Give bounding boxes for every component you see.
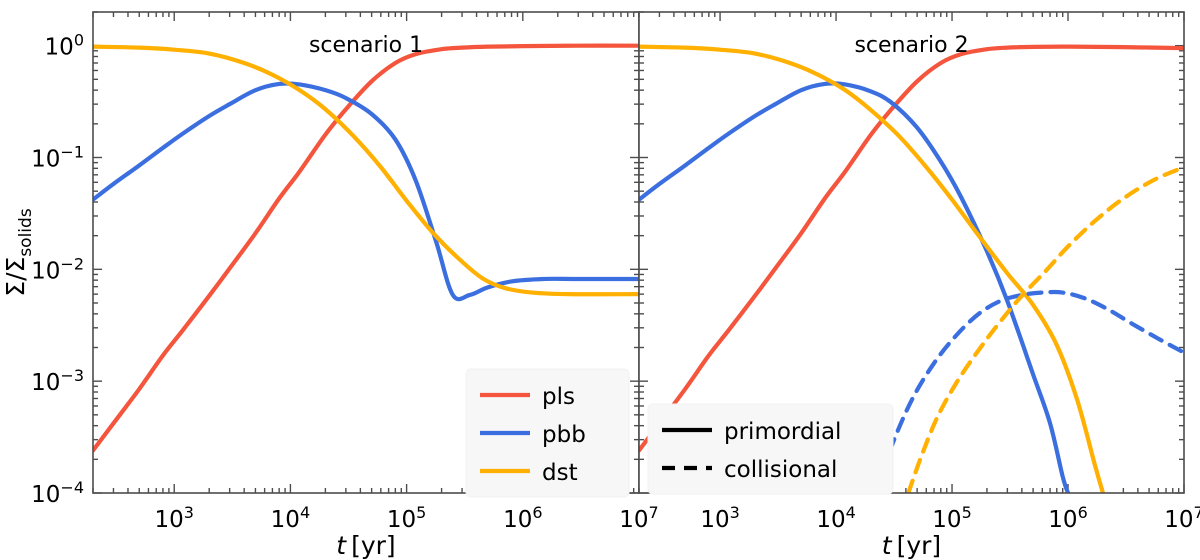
x-tick-base: 10 <box>700 507 729 533</box>
x-tick-exponent: 3 <box>730 503 740 522</box>
y-tick-base: 10 <box>31 370 60 396</box>
y-tick-exponent: −4 <box>60 478 84 497</box>
x-tick-exponent: 7 <box>649 503 659 522</box>
figure-panel-container: scenario 1scenario 210310410510610710310… <box>0 0 1200 560</box>
x-axis-unit: [yr] <box>897 531 942 560</box>
x-tick-exponent: 4 <box>846 503 856 522</box>
panel-title-2: scenario 2 <box>854 33 968 58</box>
x-tick-label: 103 <box>700 503 739 533</box>
x-tick-label: 106 <box>503 503 542 533</box>
x-tick-label: 104 <box>271 503 310 533</box>
panel-title-1: scenario 1 <box>309 33 423 58</box>
y-tick-label: 10−1 <box>31 142 84 172</box>
x-tick-exponent: 7 <box>1194 503 1200 522</box>
x-tick-base: 10 <box>387 507 416 533</box>
y-tick-label: 10−3 <box>31 366 84 396</box>
y-tick-base: 10 <box>31 146 60 172</box>
legend-series-legend: plspbbdst <box>466 369 629 497</box>
y-tick-label: 10−2 <box>31 254 84 284</box>
x-tick-base: 10 <box>1164 507 1193 533</box>
x-tick-base: 10 <box>271 507 300 533</box>
y-tick-label: 10−4 <box>31 478 84 508</box>
y-axis-main: Σ/Σ <box>1 257 30 297</box>
x-tick-base: 10 <box>932 507 961 533</box>
legend-label-pbb: pbb <box>542 422 586 448</box>
x-axis-variable: t <box>336 531 347 560</box>
y-tick-base: 10 <box>31 258 60 284</box>
x-tick-exponent: 5 <box>416 503 426 522</box>
x-tick-exponent: 5 <box>962 503 972 522</box>
y-tick-base: 10 <box>31 482 60 508</box>
x-tick-exponent: 6 <box>1078 503 1088 522</box>
x-axis-unit: [yr] <box>351 531 396 560</box>
x-tick-exponent: 6 <box>532 503 542 522</box>
x-tick-label: 106 <box>1048 503 1087 533</box>
x-tick-label: 107 <box>1164 503 1200 533</box>
y-tick-exponent: 0 <box>74 31 84 50</box>
x-tick-label: 103 <box>154 503 193 533</box>
legend-label-primordial: primordial <box>724 419 841 445</box>
x-tick-label: 104 <box>816 503 855 533</box>
y-tick-exponent: −1 <box>60 142 84 161</box>
scenario-comparison-chart: scenario 1scenario 210310410510610710310… <box>0 0 1200 560</box>
x-tick-label: 105 <box>387 503 426 533</box>
x-tick-base: 10 <box>154 507 183 533</box>
legend-label-collisional: collisional <box>724 457 837 483</box>
y-axis-subscript: solids <box>16 208 36 256</box>
y-tick-exponent: −3 <box>60 366 84 385</box>
legend-label-pls: pls <box>542 384 575 410</box>
x-tick-base: 10 <box>503 507 532 533</box>
x-axis-title: t[yr] <box>882 531 941 560</box>
x-tick-exponent: 4 <box>300 503 310 522</box>
y-tick-base: 10 <box>45 35 74 61</box>
x-tick-base: 10 <box>619 507 648 533</box>
x-axis-title: t[yr] <box>336 531 395 560</box>
x-tick-base: 10 <box>1048 507 1077 533</box>
legend-label-dst: dst <box>542 460 578 486</box>
x-tick-label: 107 <box>619 503 658 533</box>
x-tick-base: 10 <box>816 507 845 533</box>
y-tick-label: 100 <box>45 31 84 61</box>
x-tick-exponent: 3 <box>184 503 194 522</box>
x-axis-variable: t <box>882 531 893 560</box>
y-tick-exponent: −2 <box>60 254 84 273</box>
legend-style-legend: primordialcollisional <box>648 404 893 494</box>
x-tick-label: 105 <box>932 503 971 533</box>
